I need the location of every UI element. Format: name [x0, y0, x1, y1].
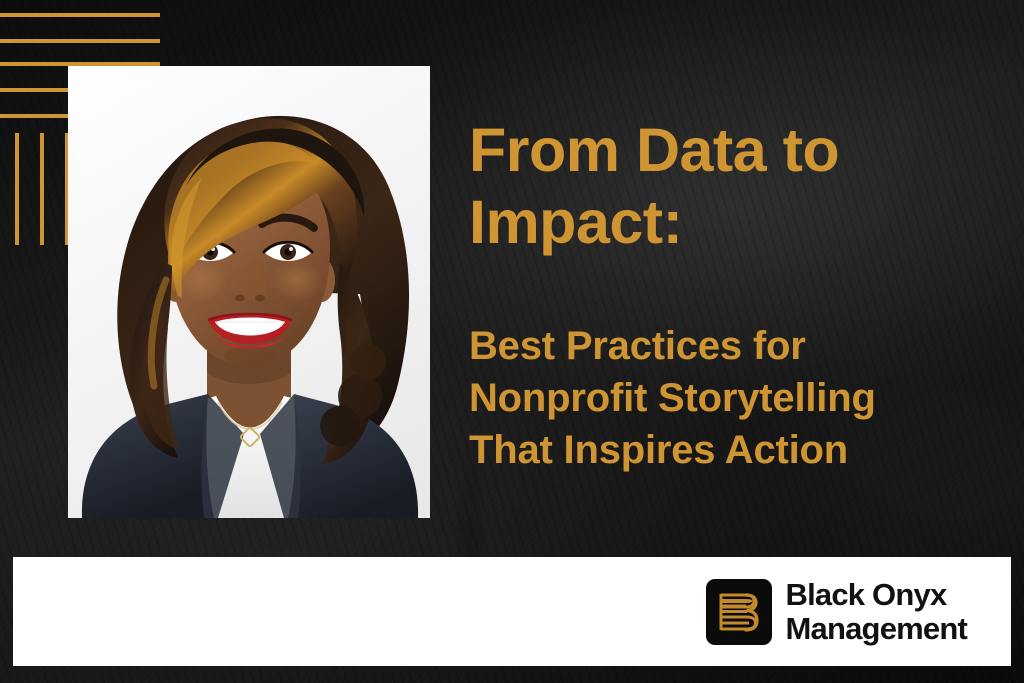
black-onyx-b-monogram-icon — [706, 579, 772, 645]
deco-vertical-line-1 — [15, 133, 19, 245]
title-line-2: Impact: — [469, 187, 969, 259]
brand-logo: Black Onyx Management — [706, 579, 967, 645]
slide-subtitle: Best Practices for Nonprofit Storytellin… — [469, 320, 969, 476]
brand-name-line-1: Black Onyx — [786, 579, 967, 610]
subtitle-line-1: Best Practices for — [469, 320, 969, 372]
brand-wordmark: Black Onyx Management — [786, 579, 967, 644]
presentation-slide: From Data to Impact: Best Practices for … — [0, 0, 1024, 683]
subtitle-line-3: That Inspires Action — [469, 424, 969, 476]
portrait-illustration — [68, 66, 430, 518]
deco-vertical-line-2 — [40, 133, 44, 245]
b-monogram-glyph — [716, 589, 762, 635]
deco-horizontal-line-2 — [0, 39, 160, 43]
deco-horizontal-line-1 — [0, 13, 160, 17]
speaker-portrait-photo — [68, 66, 430, 518]
subtitle-line-2: Nonprofit Storytelling — [469, 372, 969, 424]
footer-bar: Black Onyx Management — [13, 557, 1011, 666]
brand-name-line-2: Management — [786, 613, 967, 644]
slide-title: From Data to Impact: — [469, 115, 969, 259]
title-line-1: From Data to — [469, 115, 969, 187]
